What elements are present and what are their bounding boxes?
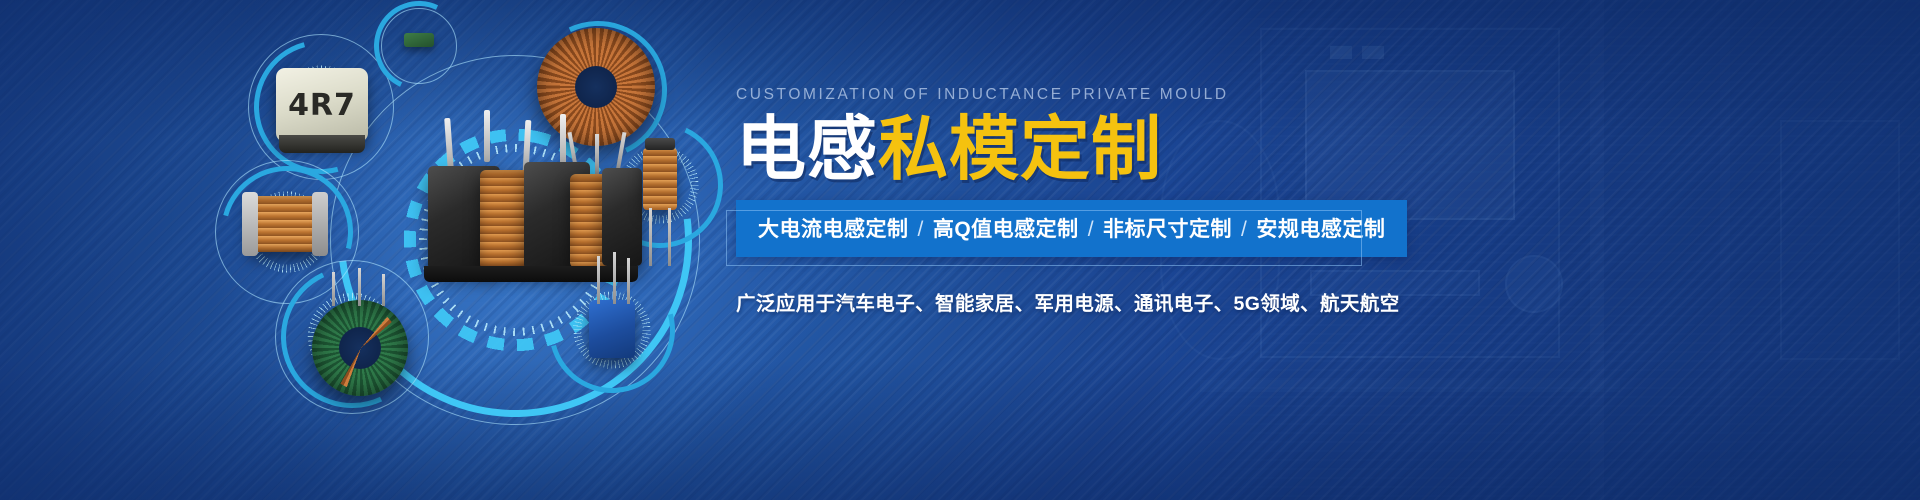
- drum-copper-winding: [643, 148, 677, 210]
- toroid-lead-wire: [332, 272, 335, 306]
- toroid-lead-wire: [382, 274, 385, 306]
- banner-eyebrow-text: CUSTOMIZATION OF INDUCTANCE PRIVATE MOUL…: [736, 86, 1376, 104]
- headline-gold-part: 私模定制: [878, 110, 1162, 188]
- feature-separator: /: [1079, 218, 1103, 241]
- product-small-coil-top: [404, 33, 434, 47]
- page-title: 电感私模定制: [736, 112, 1376, 186]
- blue-inductor-lead: [627, 258, 630, 304]
- feature-item-0: 大电流电感定制: [758, 218, 909, 241]
- smd-inductor-body: 4R7: [276, 68, 368, 142]
- product-toroidal-choke-bottom: [312, 300, 408, 396]
- blue-inductor-lead: [613, 252, 616, 304]
- product-bobbin-inductor: [248, 196, 322, 252]
- cluster-pin: [560, 114, 566, 166]
- feature-item-1: 高Q值电感定制: [933, 218, 1079, 241]
- product-toroidal-choke-top: [537, 28, 655, 146]
- smd-marking-label: 4R7: [276, 68, 368, 142]
- bobbin-flange: [312, 192, 328, 256]
- drum-lead-wire: [649, 208, 652, 266]
- cluster-pin: [484, 110, 490, 162]
- feature-separator: /: [1232, 218, 1256, 241]
- ferrite-core-block: [602, 168, 642, 266]
- blue-inductor-body: [589, 300, 635, 358]
- banner-content: CUSTOMIZATION OF INDUCTANCE PRIVATE MOUL…: [736, 86, 1376, 316]
- promo-banner: 4R7: [0, 0, 1920, 500]
- blue-inductor-lead: [597, 256, 600, 304]
- headline-white-part: 电感: [736, 110, 878, 188]
- small-coil-body: [404, 33, 434, 47]
- feature-separator: /: [909, 218, 933, 241]
- product-drum-core-inductor: [643, 148, 677, 210]
- product-smd-inductor: 4R7: [276, 68, 368, 142]
- toroid-winding: [537, 28, 655, 146]
- bobbin-copper-winding: [248, 196, 322, 252]
- feature-item-2: 非标尺寸定制: [1103, 218, 1232, 241]
- drum-core-top: [645, 138, 675, 150]
- feature-list-bar[interactable]: 大电流电感定制/高Q值电感定制/非标尺寸定制/安规电感定制: [736, 200, 1407, 257]
- toroid-lead-wire: [595, 134, 599, 174]
- product-blue-molded-inductor: [589, 300, 635, 358]
- drum-lead-wire: [668, 208, 671, 266]
- banner-description: 广泛应用于汽车电子、智能家居、军用电源、通讯电子、5G领域、航天航空: [736, 287, 1376, 316]
- toroid-copper-winding: [322, 306, 400, 390]
- cluster-base: [424, 266, 638, 282]
- bobbin-flange: [242, 192, 258, 256]
- toroid-lead-wire: [358, 268, 361, 306]
- feature-item-3: 安规电感定制: [1256, 218, 1385, 241]
